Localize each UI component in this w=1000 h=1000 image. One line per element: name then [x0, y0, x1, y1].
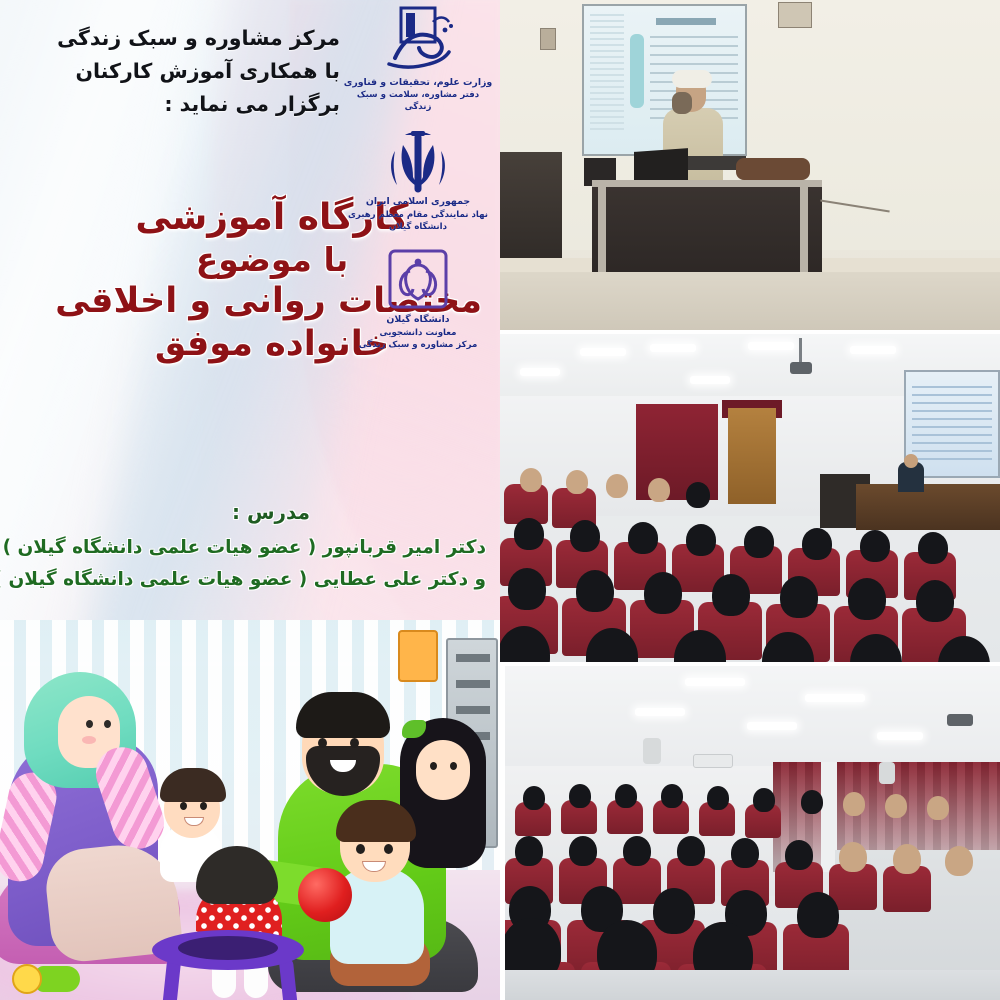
head — [628, 522, 658, 554]
ministry-logo-caption-1: وزارت علوم، تحقیقات و فناوری — [342, 77, 494, 89]
baby-eye-right — [200, 802, 207, 810]
head — [576, 570, 614, 612]
purple-stool-hole — [178, 936, 278, 960]
toy-body — [36, 966, 80, 992]
ir-logo-caption-2: نهاد نمایندگی مقام معظم رهبری — [342, 210, 494, 221]
head — [785, 840, 813, 870]
photo1-side-panel — [500, 152, 562, 272]
photo1-slide-sidebar — [590, 14, 624, 134]
head — [802, 528, 832, 560]
head — [623, 836, 651, 866]
photo2-speaker-head — [904, 454, 918, 468]
head — [916, 580, 954, 622]
photo3-air-conditioner — [693, 754, 733, 768]
photo3-ceiling-light-3 — [635, 708, 685, 716]
counseling-center-logo-block: دانشگاه گیلان معاونت دانشجویی مرکز مشاور… — [342, 247, 494, 351]
photo1-bag — [736, 158, 810, 180]
poster-header-text: مرکز مشاوره و سبک زندگی با همکاری آموزش … — [40, 22, 340, 122]
ministry-of-science-logo-block: وزارت علوم، تحقیقات و فناوری دفتر مشاوره… — [342, 2, 494, 113]
photo-speaker-at-podium — [500, 0, 1000, 330]
head — [860, 530, 890, 562]
head — [514, 518, 544, 550]
head — [686, 524, 716, 556]
head — [661, 784, 683, 808]
head — [677, 836, 705, 866]
photo2-door — [728, 408, 776, 504]
illustration-tv-box — [398, 630, 438, 682]
head — [515, 836, 543, 866]
head — [523, 786, 545, 810]
photo2-projector-rod — [799, 338, 802, 364]
red-ball — [298, 868, 352, 922]
presenter-block: مدرس : دکتر امیر قربانپور ( عضو هیات علم… — [56, 500, 486, 597]
photo2-ceiling-light-1 — [580, 348, 626, 356]
cc-logo-caption-3: مرکز مشاوره و سبک زندگی — [342, 340, 494, 351]
head — [927, 796, 949, 820]
cc-logo-caption-1: دانشگاه گیلان — [342, 314, 494, 326]
header-line-3: برگزار می نماید : — [40, 88, 340, 121]
head — [686, 482, 710, 508]
head — [918, 532, 948, 564]
photo2-ceiling-light-2 — [650, 344, 696, 352]
family-cartoon-illustration — [0, 620, 500, 1000]
islamic-republic-emblem-icon — [377, 129, 459, 195]
photo1-speaker-beard — [672, 92, 692, 114]
head — [712, 574, 750, 616]
photo-audience-auditorium — [500, 334, 1000, 662]
photo2-projector — [790, 362, 812, 374]
ir-logo-caption-3: دانشگاه گیلان — [342, 222, 494, 233]
head — [744, 526, 774, 558]
father-eye-left — [318, 738, 327, 748]
son-eye-left — [356, 844, 365, 854]
mother-eye-left — [86, 720, 93, 728]
head — [780, 576, 818, 618]
head — [707, 786, 729, 810]
photo2-ceiling-light-3 — [748, 342, 794, 350]
photo1-room — [500, 0, 1000, 330]
photo3-aisle — [505, 970, 1000, 1000]
head — [653, 888, 695, 934]
head — [731, 838, 759, 868]
head — [843, 792, 865, 816]
head — [753, 788, 775, 812]
header-line-2: با همکاری آموزش کارکنان — [40, 55, 340, 88]
photo3-ceiling-light-5 — [877, 732, 923, 740]
head — [566, 470, 588, 494]
photo3-ceiling-light-2 — [805, 694, 865, 702]
head — [945, 846, 973, 876]
photo2-room — [500, 334, 1000, 662]
event-poster: مرکز مشاوره و سبک زندگی با همکاری آموزش … — [0, 0, 1000, 1000]
head — [885, 794, 907, 818]
poster-left-panel: مرکز مشاوره و سبک زندگی با همکاری آموزش … — [0, 0, 500, 1000]
daughter-eye-left — [430, 762, 437, 770]
header-line-1: مرکز مشاوره و سبک زندگی — [40, 22, 340, 55]
photo1-slide-graphic — [630, 34, 644, 108]
head — [570, 520, 600, 552]
photo2-presenter-desk — [856, 484, 1000, 530]
photo3-room — [505, 666, 1000, 1000]
photo3-ceiling-light-1 — [685, 678, 745, 686]
daughter-eye-right — [450, 762, 457, 770]
photo3-speaker-box-left — [643, 738, 661, 764]
presenter-name-1: دکتر امیر قربانپور ( عضو هیات علمی دانشگ… — [56, 532, 486, 564]
ir-logo-caption-1: جمهوری اسلامی ایران — [342, 196, 494, 208]
photo1-wall-portrait-right — [778, 2, 812, 28]
head — [801, 790, 823, 814]
head — [615, 784, 637, 808]
head — [569, 836, 597, 866]
counseling-center-butterfly-icon — [380, 247, 456, 313]
baby-eye-left — [180, 802, 187, 810]
photo3-speaker-box-right — [879, 762, 895, 784]
ministry-of-science-logo-icon — [375, 2, 461, 76]
photo2-ceiling-light-5 — [520, 368, 560, 376]
photo1-stage-step — [500, 272, 1000, 330]
father-hair — [296, 692, 390, 738]
islamic-republic-logo-block: جمهوری اسلامی ایران نهاد نمایندگی مقام م… — [342, 129, 494, 233]
mother-cheek — [82, 736, 96, 744]
presenter-label: مدرس : — [56, 500, 486, 524]
head — [508, 568, 546, 610]
presenter-name-2: و دکتر علی عطایی ( عضو هیات علمی دانشگاه… — [56, 564, 486, 596]
cc-logo-caption-2: معاونت دانشجویی — [342, 328, 494, 339]
photo1-speaker-turban — [672, 70, 712, 88]
head — [839, 842, 867, 872]
father-eye-right — [350, 738, 359, 748]
mother-eye-right — [104, 720, 111, 728]
photo1-wall-portrait-left — [540, 28, 556, 50]
head — [893, 844, 921, 874]
son-eye-right — [384, 844, 393, 854]
photo-audience-wide — [505, 666, 1000, 1000]
ministry-logo-caption-2: دفتر مشاوره، سلامت و سبک زندگی — [342, 90, 494, 113]
head — [848, 578, 886, 620]
photo3-ceiling-light-4 — [747, 722, 797, 730]
photo2-screen-content — [912, 386, 992, 462]
photo2-ceiling-light-4 — [850, 346, 896, 354]
head — [606, 474, 628, 498]
logo-column: وزارت علوم، تحقیقات و فناوری دفتر مشاوره… — [342, 2, 494, 351]
toy-head — [12, 964, 42, 994]
head — [569, 784, 591, 808]
photo3-projector — [947, 714, 973, 726]
photo2-ceiling-light-6 — [690, 376, 730, 384]
head — [520, 468, 542, 492]
floor-toy — [12, 962, 82, 996]
head — [648, 478, 670, 502]
daughter-face — [416, 740, 470, 800]
photo-column — [500, 0, 1000, 1000]
head — [644, 572, 682, 614]
head — [797, 892, 839, 938]
photo1-slide-title-bar — [656, 18, 716, 25]
